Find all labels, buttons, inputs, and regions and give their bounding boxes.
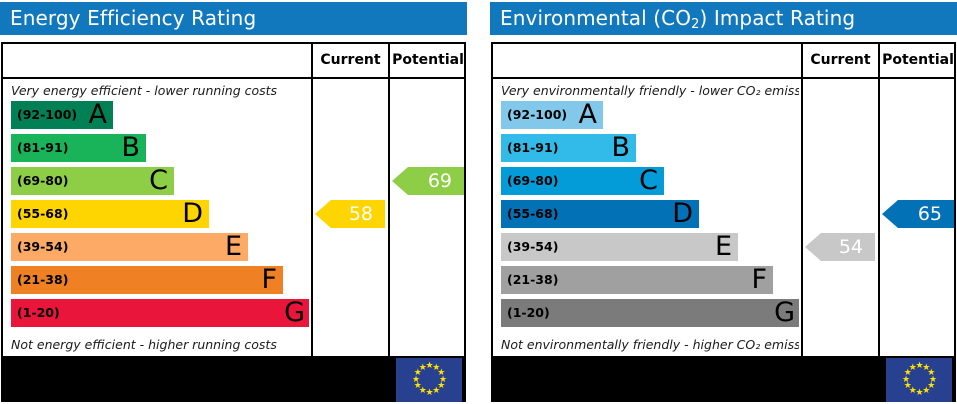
- band-letter-label: F: [751, 266, 769, 293]
- rating-band-c: (69-80)C: [501, 167, 664, 195]
- rating-table: CurrentPotentialVery energy efficient - …: [1, 42, 466, 402]
- scale-caption-bottom: Not energy efficient - higher running co…: [11, 337, 277, 352]
- eu-directive-line1: EU Directive: [762, 363, 878, 380]
- column-divider-potential: [878, 44, 880, 400]
- rating-band-e: (39-54)E: [11, 233, 248, 261]
- current-rating-arrow: 54: [805, 233, 875, 261]
- band-range-label: (92-100): [507, 109, 567, 122]
- band-letter-label: C: [149, 167, 170, 194]
- rating-band-a: (92-100)A: [11, 101, 113, 129]
- column-divider-potential: [388, 44, 390, 400]
- rating-table: CurrentPotentialVery environmentally fri…: [491, 42, 956, 402]
- eu-flag-icon: ★★★★★★★★★★★★: [396, 358, 462, 402]
- potential-rating-arrow: 65: [882, 200, 954, 228]
- rating-band-b: (81-91)B: [11, 134, 146, 162]
- band-range-label: (92-100): [17, 109, 77, 122]
- eu-directive-line1: EU Directive: [272, 363, 388, 380]
- eu-flag-icon: ★★★★★★★★★★★★: [886, 358, 952, 402]
- column-divider-current: [801, 44, 803, 400]
- rating-band-g: (1-20)G: [11, 299, 309, 327]
- band-range-label: (81-91): [17, 142, 68, 155]
- column-header-current: Current: [313, 44, 388, 77]
- eu-directive-label: EU Directive2002/91/EC: [762, 363, 886, 398]
- band-range-label: (81-91): [507, 142, 558, 155]
- chart-title-bar: Environmental (CO2) Impact Rating: [490, 2, 957, 35]
- column-header-current: Current: [803, 44, 878, 77]
- scale-caption-top: Very energy efficient - lower running co…: [11, 83, 277, 98]
- rating-band-b: (81-91)B: [501, 134, 636, 162]
- eu-directive-line2: 2002/91/EC: [272, 380, 388, 397]
- band-range-label: (55-68): [507, 208, 558, 221]
- current-rating-arrow: 58: [315, 200, 385, 228]
- rating-band-a: (92-100)A: [501, 101, 603, 129]
- band-range-label: (21-38): [507, 274, 558, 287]
- eu-directive-line2: 2002/91/EC: [762, 380, 878, 397]
- scale-caption-top: Very environmentally friendly - lower CO…: [501, 83, 799, 98]
- current-rating-value: 54: [839, 236, 863, 258]
- eu-flag-star: ★: [909, 365, 916, 372]
- rating-band-g: (1-20)G: [501, 299, 799, 327]
- band-range-label: (1-20): [507, 307, 550, 320]
- band-range-label: (1-20): [17, 307, 60, 320]
- potential-rating-arrow: 69: [392, 167, 464, 195]
- band-letter-label: E: [715, 233, 734, 260]
- footer-region-label: England, Scotland & Wales: [3, 370, 272, 390]
- rating-band-f: (21-38)F: [501, 266, 773, 294]
- rating-band-f: (21-38)F: [11, 266, 283, 294]
- rating-band-d: (55-68)D: [501, 200, 699, 228]
- scale-caption-bottom: Not environmentally friendly - higher CO…: [501, 337, 799, 352]
- environmental-co2-impact-rating-chart: Environmental (CO2) Impact RatingCurrent…: [490, 0, 957, 404]
- band-range-label: (69-80): [17, 175, 68, 188]
- band-letter-label: D: [182, 200, 205, 227]
- current-rating-value: 58: [349, 203, 373, 225]
- chart-title-bar: Energy Efficiency Rating: [0, 2, 467, 35]
- potential-rating-value: 65: [918, 203, 942, 225]
- column-header-potential: Potential: [880, 44, 956, 77]
- footer-region-label: England, Scotland & Wales: [493, 370, 762, 390]
- band-letter-label: C: [639, 167, 660, 194]
- band-letter-label: E: [225, 233, 244, 260]
- rating-band-c: (69-80)C: [11, 167, 174, 195]
- eu-directive-label: EU Directive2002/91/EC: [272, 363, 396, 398]
- eu-flag-star: ★: [419, 365, 426, 372]
- rating-band-e: (39-54)E: [501, 233, 738, 261]
- rating-band-d: (55-68)D: [11, 200, 209, 228]
- band-range-label: (69-80): [507, 175, 558, 188]
- band-letter-label: F: [261, 266, 279, 293]
- energy-efficiency-rating-chart: Energy Efficiency RatingCurrentPotential…: [0, 0, 467, 404]
- chart-footer: England, Scotland & WalesEU Directive200…: [3, 358, 464, 402]
- band-letter-label: A: [89, 101, 109, 128]
- band-letter-label: A: [579, 101, 599, 128]
- rating-scale: Very energy efficient - lower running co…: [3, 79, 309, 356]
- column-header-potential: Potential: [390, 44, 466, 77]
- band-letter-label: G: [284, 299, 307, 326]
- band-range-label: (55-68): [17, 208, 68, 221]
- band-range-label: (39-54): [507, 241, 558, 254]
- co2-subscript: 2: [691, 17, 699, 32]
- chart-footer: England, Scotland & WalesEU Directive200…: [493, 358, 954, 402]
- band-letter-label: B: [611, 134, 632, 161]
- rating-scale: Very environmentally friendly - lower CO…: [493, 79, 799, 356]
- epc-charts-page: Energy Efficiency RatingCurrentPotential…: [0, 0, 957, 404]
- band-range-label: (39-54): [17, 241, 68, 254]
- band-letter-label: D: [672, 200, 695, 227]
- column-divider-current: [311, 44, 313, 400]
- band-letter-label: G: [774, 299, 797, 326]
- band-range-label: (21-38): [17, 274, 68, 287]
- band-letter-label: B: [121, 134, 142, 161]
- potential-rating-value: 69: [428, 170, 452, 192]
